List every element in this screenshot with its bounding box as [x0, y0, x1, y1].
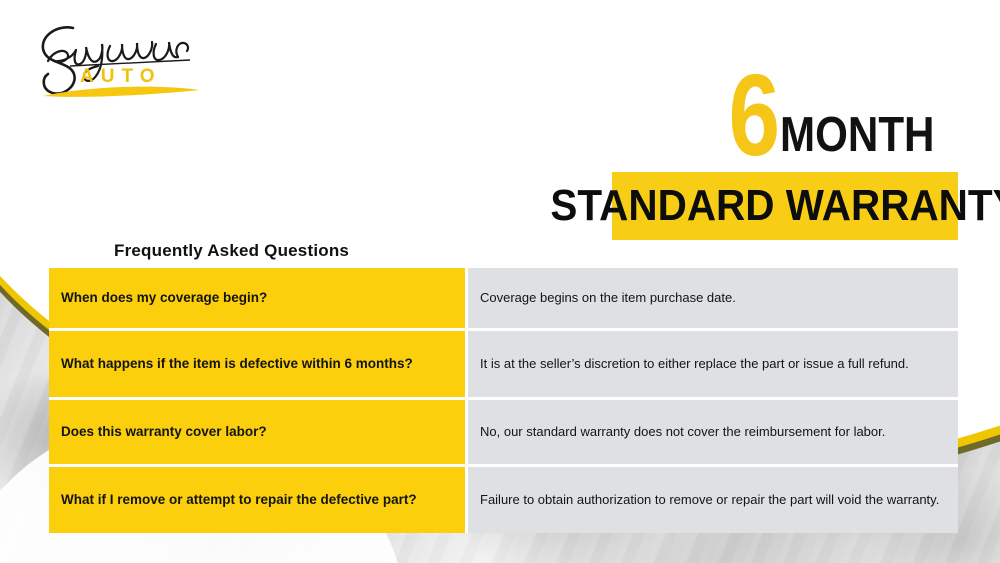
- faq-answer: It is at the seller’s discretion to eith…: [468, 331, 958, 400]
- table-row: What happens if the item is defective wi…: [49, 331, 958, 400]
- faq-question: When does my coverage begin?: [49, 268, 468, 331]
- faq-question: What if I remove or attempt to repair th…: [49, 467, 468, 533]
- logo-artwork: AUTO: [18, 16, 228, 106]
- faq-answer: No, our standard warranty does not cover…: [468, 400, 958, 467]
- duration-number: 6: [728, 66, 778, 166]
- seymour-auto-logo: AUTO: [18, 16, 228, 106]
- standard-warranty-banner: STANDARD WARRANTY: [612, 172, 958, 240]
- table-row: What if I remove or attempt to repair th…: [49, 467, 958, 533]
- duration-headline: 6 MONTH: [600, 48, 960, 166]
- faq-question: What happens if the item is defective wi…: [49, 331, 468, 400]
- logo-auto-text: AUTO: [80, 66, 161, 87]
- faq-heading: Frequently Asked Questions: [114, 241, 349, 261]
- warranty-slide: AUTO 6 MONTH STANDARD WARRANTY Frequentl…: [0, 0, 1000, 563]
- faq-question: Does this warranty cover labor?: [49, 400, 468, 467]
- table-row: When does my coverage begin? Coverage be…: [49, 268, 958, 331]
- table-row: Does this warranty cover labor? No, our …: [49, 400, 958, 467]
- faq-answer: Coverage begins on the item purchase dat…: [468, 268, 958, 331]
- faq-table: When does my coverage begin? Coverage be…: [49, 268, 958, 533]
- standard-warranty-label: STANDARD WARRANTY: [550, 184, 1000, 228]
- duration-unit: MONTH: [780, 111, 934, 160]
- faq-answer: Failure to obtain authorization to remov…: [468, 467, 958, 533]
